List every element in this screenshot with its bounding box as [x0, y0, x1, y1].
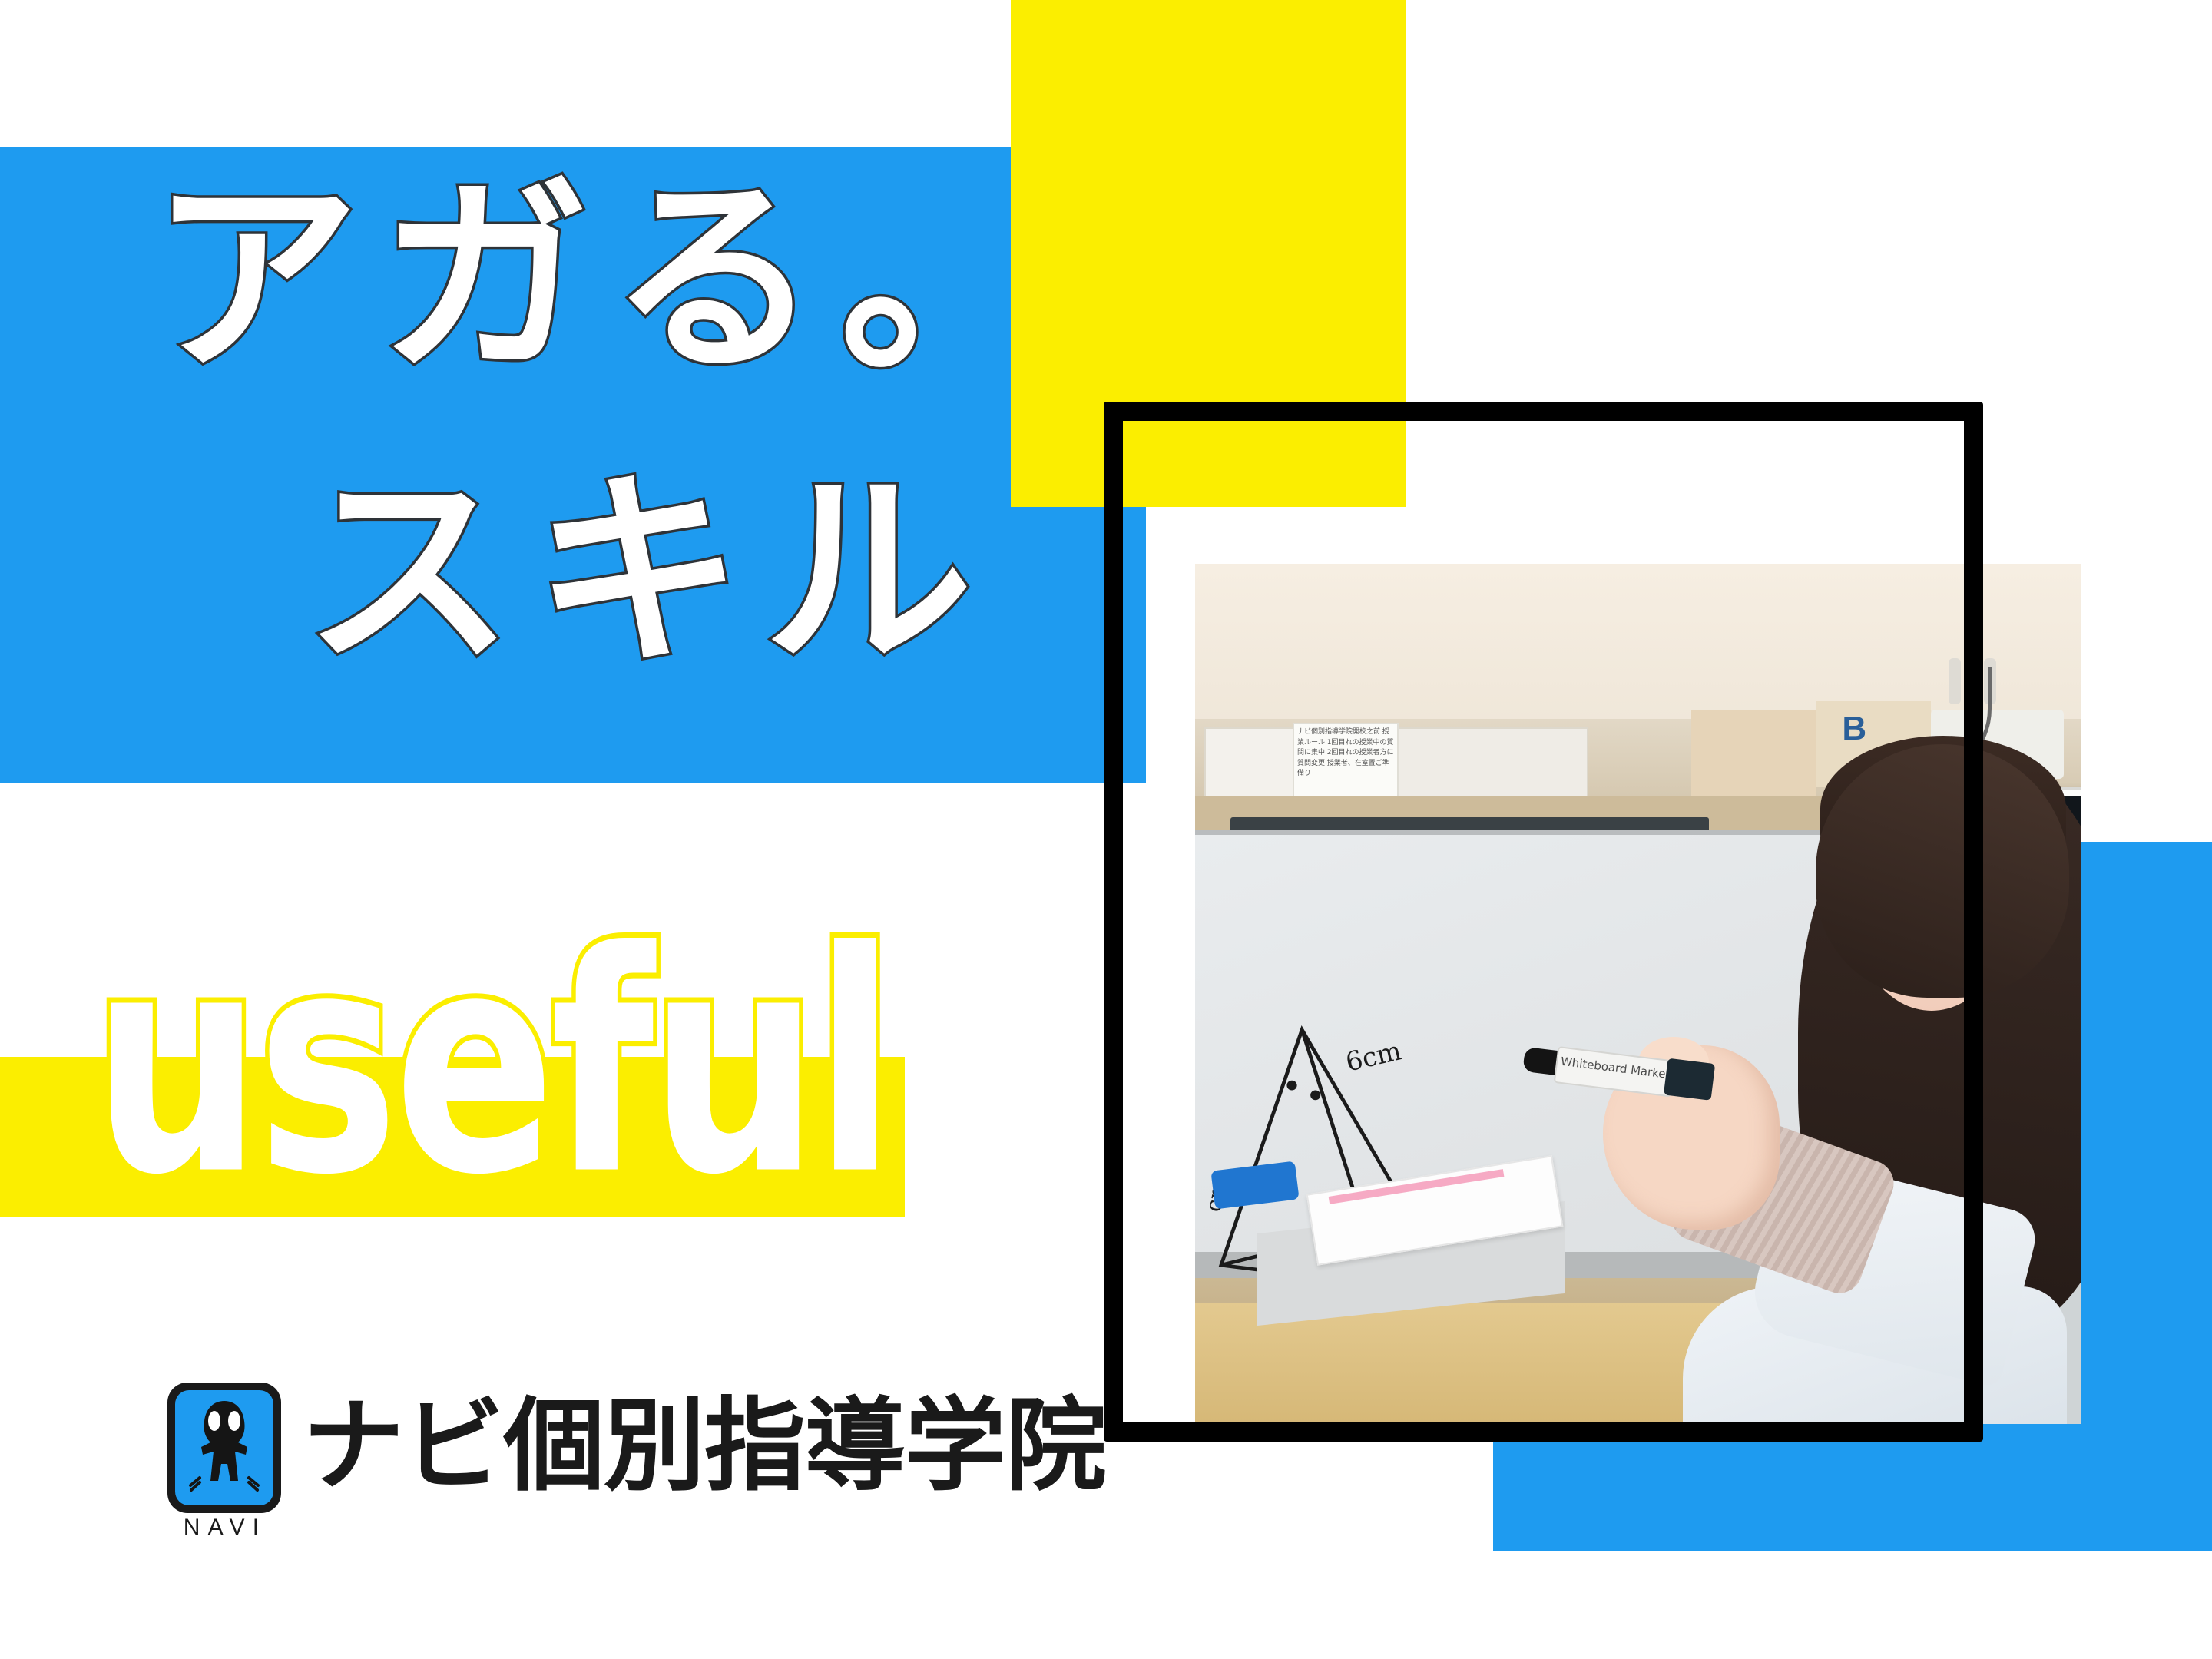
yellow-block-top [1011, 0, 1406, 507]
navi-character-icon [167, 1382, 281, 1513]
logo-mark-caption: NAVI [167, 1515, 283, 1541]
marker-cap [1664, 1058, 1715, 1101]
poster-canvas: アガる。 スキル useful B ナビ個別指導学院開校之前 授業ルール 1回目… [0, 0, 2212, 1659]
logo-brand-name: ナビ個別指導学院 [303, 1389, 1105, 1504]
photo-person-hair-front [1816, 744, 2069, 998]
headline-line-2: スキル [304, 458, 994, 688]
brand-logo: NAVI ナビ個別指導学院 [167, 1382, 997, 1536]
photo-panel-label: B [1842, 710, 1866, 748]
photo-cabinet-right [1691, 710, 1816, 804]
headline-line-1: アガる。 [151, 164, 1070, 395]
classroom-photo: B ナビ個別指導学院開校之前 授業ルール 1回目れの授業中の質問に集中 2回目れ… [1195, 564, 2081, 1424]
tagline-useful: useful [92, 908, 891, 1223]
navi-mascot-icon [187, 1398, 261, 1496]
